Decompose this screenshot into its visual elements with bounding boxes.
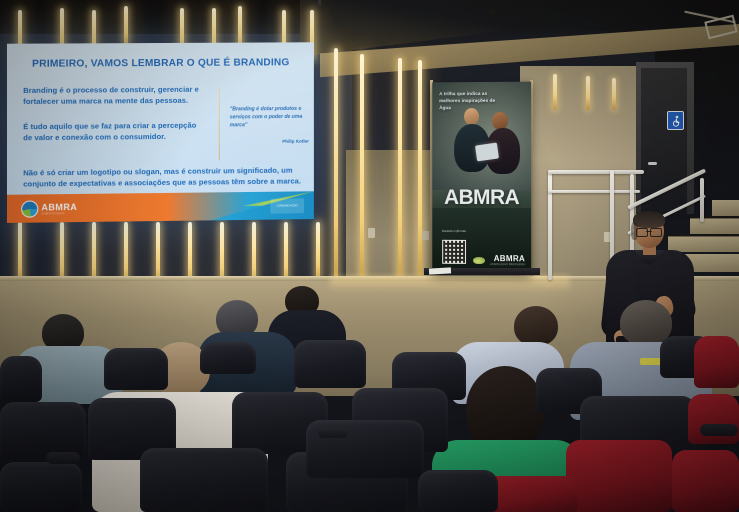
stair-shadow: [668, 234, 739, 237]
banner-logo-text: ABMRA: [490, 255, 525, 263]
banner-leaf-icon: [473, 257, 485, 264]
led-strip-icon: [360, 54, 364, 278]
led-strip-icon: [586, 76, 590, 110]
led-strip-icon: [418, 60, 422, 276]
auditorium-seat: [0, 356, 42, 402]
led-strip-icon: [252, 222, 256, 284]
slide-title: PRIMEIRO, VAMOS LEMBRAR O QUE É BRANDING: [7, 57, 314, 70]
banner-photo: A trilha que indica as melhores inspiraç…: [432, 82, 531, 190]
slide-quote-author: Philip Kotler: [230, 139, 309, 145]
handrail-post: [548, 170, 552, 280]
ceiling-mount: [318, 0, 321, 6]
led-strip-icon: [316, 222, 320, 280]
led-strip-icon: [398, 58, 402, 278]
wheelchair-accessible-icon: [667, 111, 684, 130]
banner-logo: ABMRA ASSOCIAÇÃO BRASILEIRA: [490, 255, 525, 266]
auditorium-seat: [418, 470, 498, 512]
auditorium-seat: [200, 342, 256, 374]
seat-armrest: [46, 452, 80, 464]
auditorium-seat: [0, 462, 82, 512]
quote-divider: [219, 87, 220, 161]
led-strip-icon: [60, 222, 64, 284]
stair-step: [712, 200, 739, 216]
person-head: [514, 306, 558, 346]
slide-paragraph-1: Branding é o processo de construir, gere…: [23, 85, 204, 108]
led-strip-icon: [92, 222, 96, 284]
slide-footer-bar: ABMRA COMUNICAÇÃO COMUNICAÇÃO: [7, 191, 314, 223]
handrail-post: [700, 178, 704, 222]
auditorium-seat-red: [694, 336, 739, 388]
slide-footer-badge: COMUNICAÇÃO: [270, 198, 304, 213]
handrail-top: [548, 170, 644, 174]
banner-qr-caption: Escaneie o QR code: [442, 230, 472, 233]
led-strip-icon: [188, 222, 192, 284]
seat-armrest: [700, 424, 738, 436]
led-strip-icon: [124, 6, 128, 44]
stair-step: [690, 218, 739, 234]
floor-light-reflection: [330, 276, 570, 292]
led-strip-icon: [553, 74, 557, 110]
speaker-hair: [633, 211, 665, 228]
auditorium-seat-red: [566, 440, 672, 512]
banner-logo-subtitle: ASSOCIAÇÃO BRASILEIRA: [490, 263, 525, 266]
slide-paragraph-2: É tudo aquilo que se faz para criar a pe…: [23, 121, 204, 144]
door-handle[interactable]: [648, 162, 657, 165]
handrail-mid: [548, 190, 640, 193]
slide-footer-logo: ABMRA COMUNICAÇÃO: [21, 200, 77, 218]
abmra-rollup-banner: A trilha que indica as melhores inspiraç…: [432, 82, 531, 275]
banner-headline: A trilha que indica as melhores inspiraç…: [439, 91, 501, 112]
projected-slide: PRIMEIRO, VAMOS LEMBRAR O QUE É BRANDING…: [7, 42, 314, 223]
abmra-logo-icon: [21, 200, 38, 217]
led-strip-icon: [18, 222, 22, 284]
eyeglasses-icon: [636, 228, 662, 235]
auditorium-seat: [140, 448, 268, 512]
qr-code-icon[interactable]: [442, 240, 466, 264]
auditorium-seat-red: [672, 450, 739, 512]
stair-step: [668, 236, 739, 252]
wall-outlet: [422, 231, 429, 240]
banner-wordmark: ABMRA: [434, 186, 529, 210]
led-strip-icon: [220, 222, 224, 284]
auditorium-seat: [0, 402, 86, 458]
auditorium-photo: PRIMEIRO, VAMOS LEMBRAR O QUE É BRANDING…: [0, 0, 739, 512]
banner-tablet-icon: [475, 143, 499, 162]
auditorium-seat: [294, 340, 366, 388]
abmra-logo-text: ABMRA: [41, 202, 77, 211]
abmra-logo-subtitle: COMUNICAÇÃO: [41, 212, 77, 215]
slide-quote: "Branding é dotar produtos e serviços co…: [230, 106, 309, 130]
led-strip-icon: [124, 222, 128, 284]
seat-armrest: [318, 428, 348, 438]
auditorium-seat-red: [688, 394, 739, 444]
led-strip-icon: [612, 78, 616, 110]
slide-paragraph-3: Não é só criar um logotipo ou slogan, ma…: [23, 166, 301, 191]
wall-outlet: [368, 228, 375, 238]
led-strip-icon: [284, 222, 288, 282]
led-strip-icon: [334, 48, 338, 278]
led-strip-icon: [156, 222, 160, 284]
auditorium-seat: [104, 348, 168, 390]
stair-shadow: [690, 216, 739, 219]
paper-sheet: [429, 267, 451, 274]
